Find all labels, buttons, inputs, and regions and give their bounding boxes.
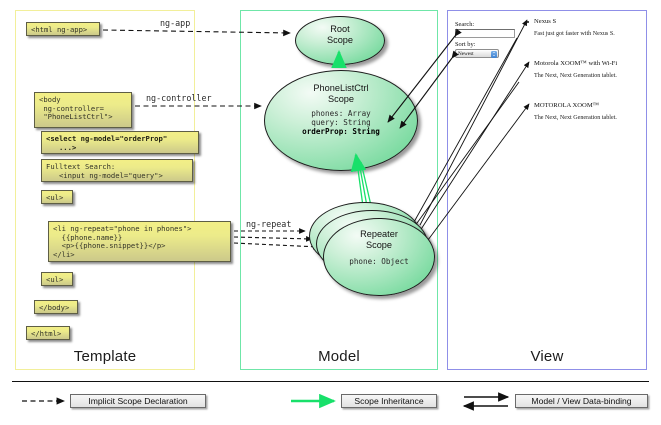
code-box-select: <select ng-model="orderProp" ...> <box>41 131 199 154</box>
view-sort-label: Sort by: <box>455 41 475 48</box>
code-box-html-open: <html ng-app> <box>26 22 100 36</box>
view-phone-snippet: The Next, Next Generation tablet. <box>534 72 640 80</box>
view-phone-name: Motorola XOOM™ with Wi-Fi <box>534 60 640 68</box>
scope-root-title-2: Scope <box>296 35 384 46</box>
view-search-input[interactable] <box>455 29 515 38</box>
scope-phonelistctrl-title-2: Scope <box>265 94 417 105</box>
view-phone-snippet: The Next, Next Generation tablet. <box>534 114 640 122</box>
view-phone-name: Nexus S <box>534 18 640 26</box>
code-box-html-close: </html> <box>26 326 70 340</box>
panel-template-title: Template <box>16 348 194 365</box>
scope-phonelistctrl-title-1: PhoneListCtrl <box>265 83 417 94</box>
view-phone-item-0: Nexus S Fast just got faster with Nexus … <box>534 18 640 38</box>
legend-item-scope-inheritance: Scope Inheritance <box>341 394 437 408</box>
scope-repeater-title-1: Repeater <box>324 229 434 240</box>
view-phone-name: MOTOROLA XOOM™ <box>534 102 640 110</box>
code-box-ul-close: <ul> <box>41 272 73 286</box>
legend-divider <box>12 381 649 382</box>
edge-label-ng-repeat: ng-repeat <box>246 219 291 229</box>
scope-prop-orderprop: orderProp: String <box>265 127 417 136</box>
panel-view-title: View <box>448 348 646 365</box>
code-box-li-repeat: <li ng-repeat="phone in phones"> {{phone… <box>48 221 231 262</box>
scope-prop-phone: phone: Object <box>324 257 434 266</box>
panel-model-title: Model <box>241 348 437 365</box>
edge-label-ng-app: ng-app <box>160 18 190 28</box>
code-box-body-close: </body> <box>34 300 78 314</box>
scope-phonelistctrl: PhoneListCtrl Scope phones: Array query:… <box>264 70 418 171</box>
code-box-input: Fulltext Search: <input ng-model="query"… <box>41 159 193 182</box>
view-sort-selected-value: Newest <box>458 51 474 57</box>
code-box-ul-open: <ul> <box>41 190 73 204</box>
view-phone-item-2: MOTOROLA XOOM™ The Next, Next Generation… <box>534 102 640 122</box>
edge-label-ng-controller: ng-controller <box>146 93 212 103</box>
chevron-updown-icon[interactable] <box>491 51 497 58</box>
scope-root-title-1: Root <box>296 24 384 35</box>
view-sort-select[interactable]: Newest <box>455 49 499 58</box>
view-search-label: Search: <box>455 21 474 28</box>
legend-item-implicit-scope-declaration: Implicit Scope Declaration <box>70 394 206 408</box>
scope-prop-phones: phones: Array <box>265 109 417 118</box>
legend-item-model-view-data-binding: Model / View Data-binding <box>515 394 648 408</box>
diagram-canvas: Template Model View <html ng-app> <body … <box>0 0 661 425</box>
scope-repeater-title-2: Scope <box>324 240 434 251</box>
view-phone-item-1: Motorola XOOM™ with Wi-Fi The Next, Next… <box>534 60 640 80</box>
code-box-body-open: <body ng-controller= "PhoneListCtrl"> <box>34 92 132 128</box>
scope-prop-query: query: String <box>265 118 417 127</box>
view-phone-snippet: Fast just got faster with Nexus S. <box>534 30 640 38</box>
scope-repeater: Repeater Scope phone: Object <box>323 218 435 296</box>
scope-root: Root Scope <box>295 16 385 65</box>
